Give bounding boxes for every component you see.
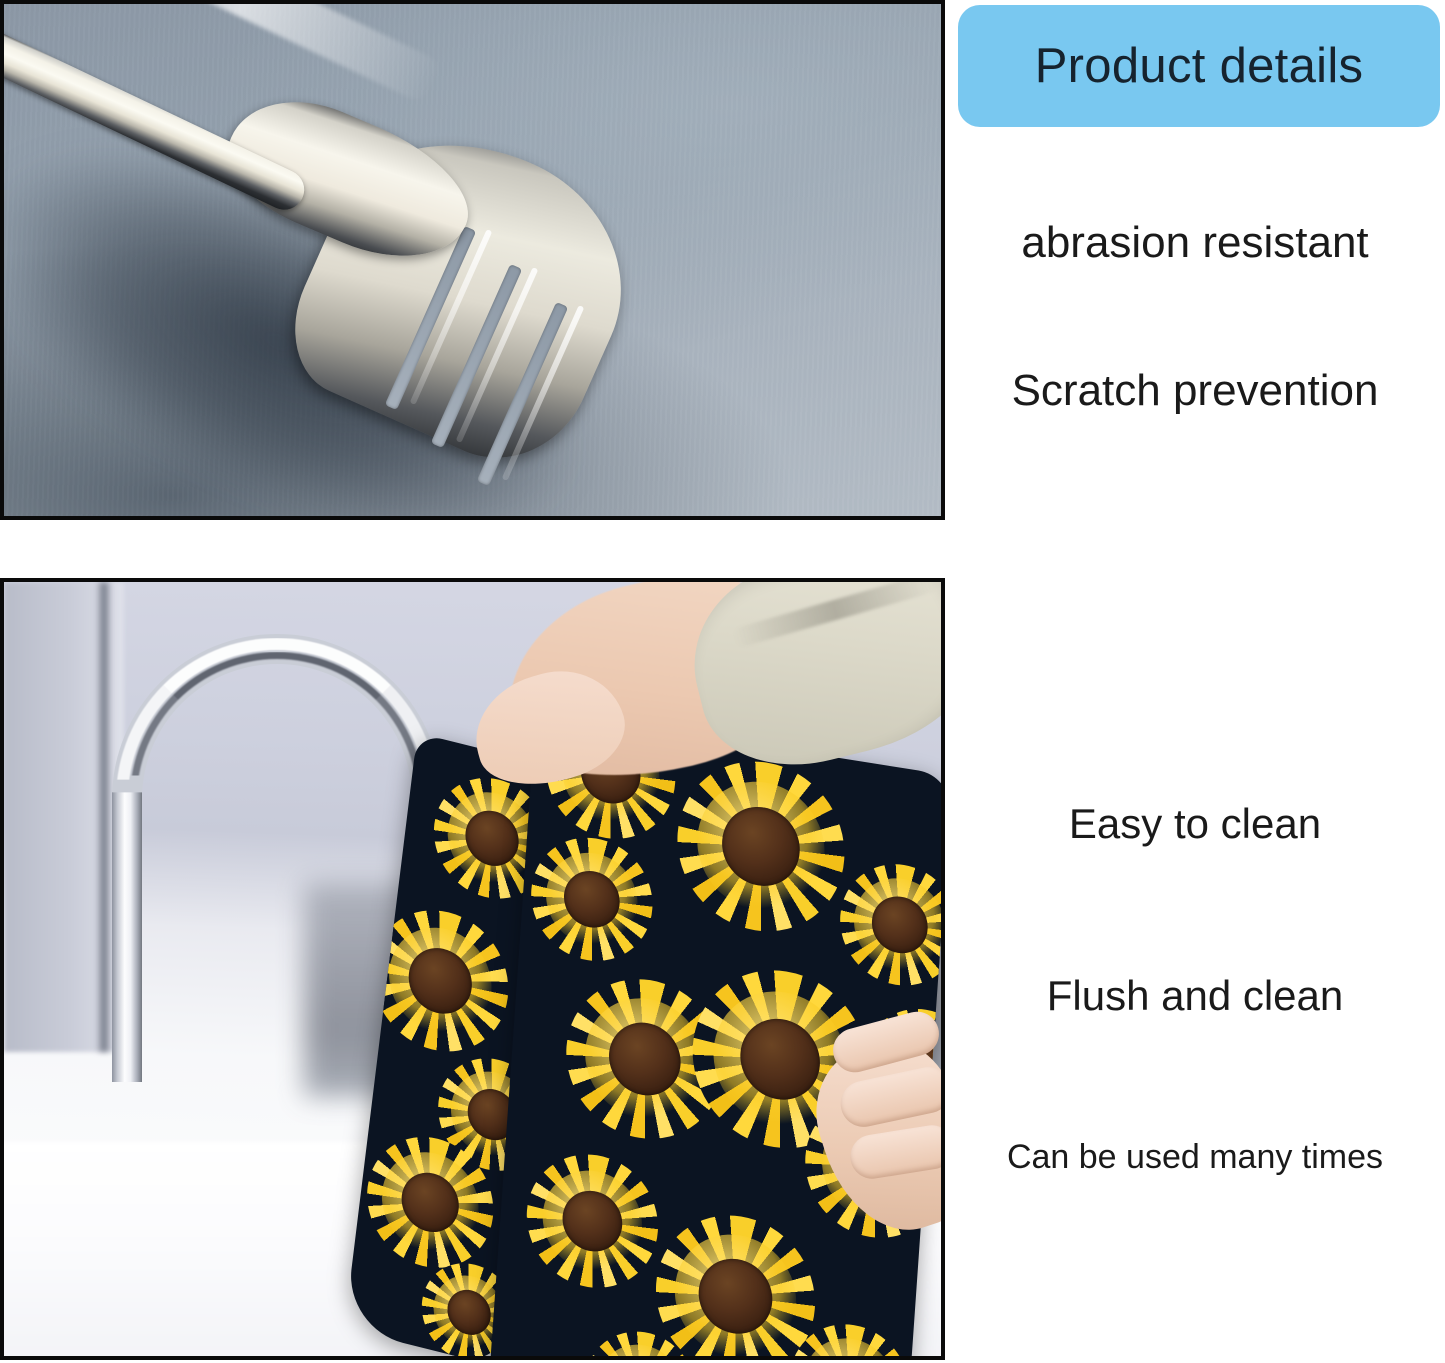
feature-scratch-prevention: Scratch prevention <box>945 366 1445 416</box>
sunflower-motif <box>651 1204 821 1360</box>
feature-flush-and-clean: Flush and clean <box>945 972 1445 1020</box>
product-details-badge: Product details <box>958 5 1440 127</box>
sunflower-motif <box>672 749 850 943</box>
details-column: Product details abrasion resistant Scrat… <box>945 0 1445 1363</box>
feature-abrasion-resistant: abrasion resistant <box>945 218 1445 268</box>
faucet-column <box>112 792 142 1082</box>
sink-wall-shadow <box>96 582 112 1052</box>
feature-can-be-used-many-times: Can be used many times <box>945 1138 1445 1177</box>
fork-object <box>0 0 744 520</box>
sunflower-motif <box>836 856 945 995</box>
product-photo-faucet-cloth <box>0 578 945 1360</box>
fork-gloss-highlight <box>83 0 446 106</box>
sunflower-motif <box>522 1145 662 1297</box>
product-details-title: Product details <box>1035 38 1364 94</box>
feature-easy-to-clean: Easy to clean <box>945 800 1445 848</box>
product-detail-page: Product details abrasion resistant Scrat… <box>0 0 1445 1363</box>
product-photo-fork <box>0 0 945 520</box>
sunflower-motif <box>527 829 656 970</box>
